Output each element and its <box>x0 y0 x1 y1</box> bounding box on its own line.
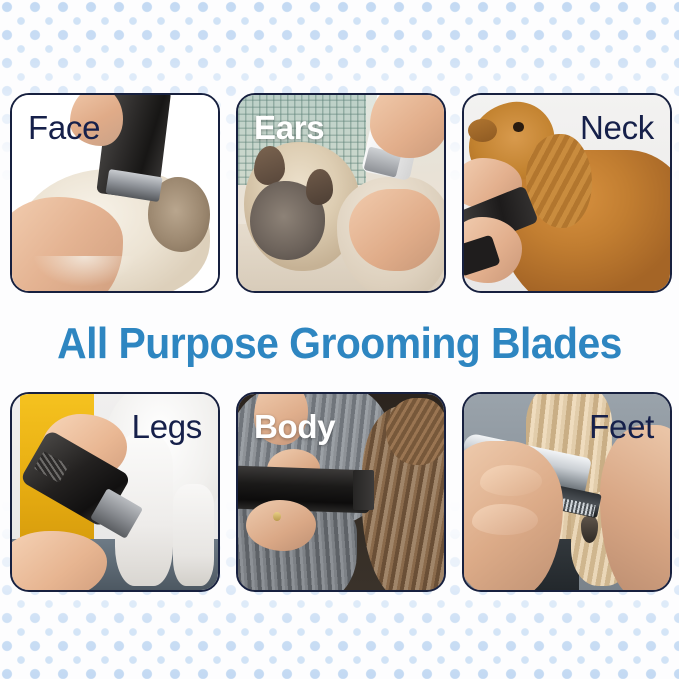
pug-ear-shape <box>254 146 285 185</box>
right-hand-shape <box>600 425 670 590</box>
card-label-body: Body <box>254 410 335 443</box>
finger-shape <box>480 465 542 496</box>
card-face[interactable]: Face <box>10 93 220 293</box>
card-label-ears: Ears <box>254 111 324 144</box>
card-body[interactable]: Body <box>236 392 446 592</box>
upper-hand-shape <box>370 95 444 158</box>
card-label-face: Face <box>28 111 100 144</box>
pug-ear-second-shape <box>306 169 333 204</box>
card-label-legs: Legs <box>132 410 202 443</box>
card-label-neck: Neck <box>580 111 654 144</box>
card-ears[interactable]: Ears <box>236 93 446 293</box>
infographic-page: Face Ears <box>0 0 679 679</box>
lower-hand-shape <box>349 189 440 271</box>
lower-hand-shape <box>246 500 316 551</box>
page-title: All Purpose Grooming Blades <box>24 314 655 374</box>
card-row-bottom: Legs Body <box>10 392 672 592</box>
fur-highlight-shape <box>33 256 136 287</box>
dog-second-leg-shape <box>173 484 214 586</box>
spaniel-snout-shape <box>468 119 497 143</box>
finger-second-shape <box>472 504 538 535</box>
card-neck[interactable]: Neck <box>462 93 672 293</box>
terrier-head-shape <box>386 398 444 465</box>
card-feet[interactable]: Feet <box>462 392 672 592</box>
spaniel-eye-shape <box>513 122 523 132</box>
card-row-top: Face Ears <box>10 93 672 293</box>
card-legs[interactable]: Legs <box>10 392 220 592</box>
lower-hand-shape <box>12 531 107 590</box>
clipper-blade-shape <box>353 470 374 509</box>
card-label-feet: Feet <box>589 410 654 443</box>
